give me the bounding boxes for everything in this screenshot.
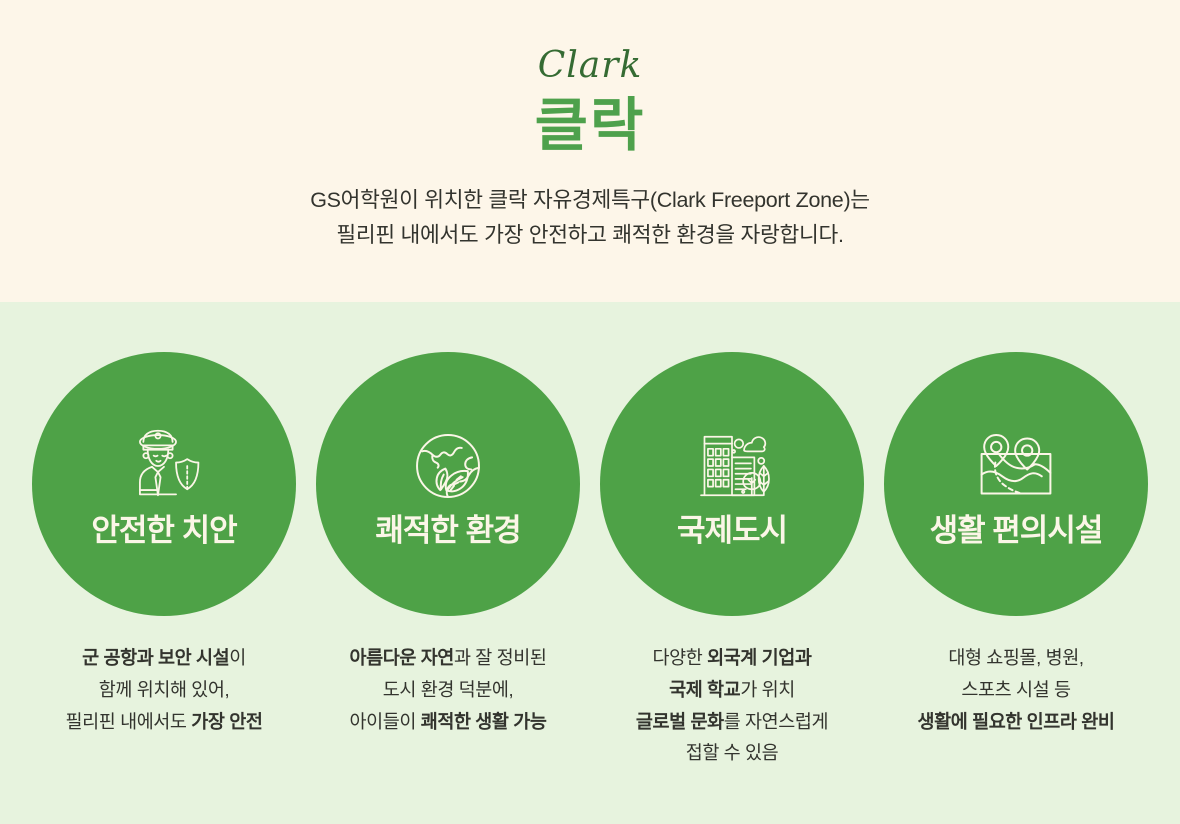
feature-caption: 다양한 외국계 기업과국제 학교가 위치글로벌 문화를 자연스럽게접할 수 있음 [636,642,828,769]
feature-caption-line: 군 공항과 보안 시설이 [65,642,262,674]
feature-title: 안전한 치안 [91,515,236,546]
map-pins-icon [973,423,1059,509]
feature-caption: 군 공항과 보안 시설이함께 위치해 있어,필리핀 내에서도 가장 안전 [65,642,262,737]
feature-circle: 국제도시 [600,352,864,616]
feature-caption: 아름다운 자연과 잘 정비된도시 환경 덕분에,아이들이 쾌적한 생활 가능 [349,642,546,737]
feature-caption-line: 다양한 외국계 기업과 [636,642,828,674]
feature-caption-line: 스포츠 시설 등 [917,674,1114,706]
feature-caption-line: 국제 학교가 위치 [636,674,828,706]
city-buildings-icon [689,423,775,509]
feature-card: 국제도시 다양한 외국계 기업과국제 학교가 위치글로벌 문화를 자연스럽게접할… [598,352,866,769]
hero-section: Clark 클락 GS어학원이 위치한 클락 자유경제특구(Clark Free… [0,0,1180,302]
globe-leaf-icon [405,423,491,509]
feature-circle: 생활 편의시설 [884,352,1148,616]
features-panel: 안전한 치안 군 공항과 보안 시설이함께 위치해 있어,필리핀 내에서도 가장… [0,302,1180,824]
hero-description-line-1: GS어학원이 위치한 클락 자유경제특구(Clark Freeport Zone… [310,183,870,218]
feature-caption-line: 함께 위치해 있어, [65,674,262,706]
feature-card-list: 안전한 치안 군 공항과 보안 시설이함께 위치해 있어,필리핀 내에서도 가장… [0,302,1180,769]
feature-caption-line: 아이들이 쾌적한 생활 가능 [349,706,546,738]
hero-script-title: Clark [538,48,643,84]
hero-korean-title: 클락 [535,96,646,157]
feature-title: 국제도시 [677,515,787,546]
feature-caption-line: 필리핀 내에서도 가장 안전 [65,706,262,738]
feature-title: 생활 편의시설 [930,515,1103,546]
feature-caption-line: 생활에 필요한 인프라 완비 [917,706,1114,738]
feature-caption-line: 도시 환경 덕분에, [349,674,546,706]
feature-card: 생활 편의시설 대형 쇼핑몰, 병원,스포츠 시설 등생활에 필요한 인프라 완… [882,352,1150,737]
feature-caption-line: 글로벌 문화를 자연스럽게 [636,706,828,738]
feature-title: 쾌적한 환경 [375,515,520,546]
feature-card: 안전한 치안 군 공항과 보안 시설이함께 위치해 있어,필리핀 내에서도 가장… [30,352,298,737]
feature-circle: 안전한 치안 [32,352,296,616]
feature-circle: 쾌적한 환경 [316,352,580,616]
police-officer-shield-icon [121,423,207,509]
feature-card: 쾌적한 환경 아름다운 자연과 잘 정비된도시 환경 덕분에,아이들이 쾌적한 … [314,352,582,737]
hero-description-line-2: 필리핀 내에서도 가장 안전하고 쾌적한 환경을 자랑합니다. [310,218,870,253]
feature-caption-line: 접할 수 있음 [636,737,828,769]
hero-description: GS어학원이 위치한 클락 자유경제특구(Clark Freeport Zone… [310,183,870,253]
feature-caption-line: 대형 쇼핑몰, 병원, [917,642,1114,674]
feature-caption-line: 아름다운 자연과 잘 정비된 [349,642,546,674]
feature-caption: 대형 쇼핑몰, 병원,스포츠 시설 등생활에 필요한 인프라 완비 [917,642,1114,737]
